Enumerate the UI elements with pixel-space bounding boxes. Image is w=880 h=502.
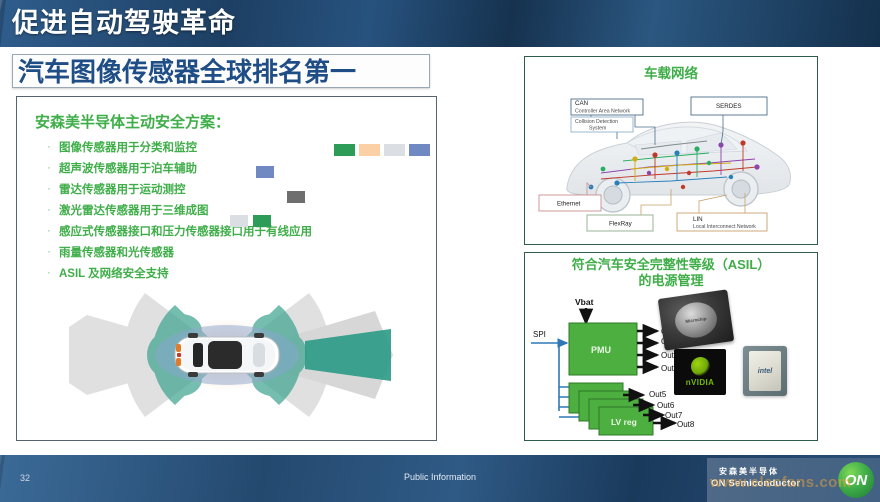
active-safety-panel: 安森美半导体主动安全方案： · 图像传感器用于分类和监控 · 超声波传感器用于泊… [16,96,437,441]
list-item-label: 图像传感器用于分类和监控 [59,142,197,154]
sensor-swatch-lidar-gray [230,215,248,227]
callout-can-line2: Controller Area Network [575,109,630,115]
list-item: · 雨量传感器和光传感器 [45,244,437,265]
callout-collision-line2: System [589,126,606,132]
spi-label: SPI [533,330,546,339]
asil-power-title-line2: 的电源管理 [525,273,817,289]
site-watermark: www.elecfans.com [710,474,880,491]
bullet-marker-icon: · [47,223,51,237]
bullet-marker-icon: · [47,181,51,195]
callout-can-line1: CAN [575,100,588,107]
sensor-swatch-lidar-green [253,215,271,227]
list-item-label: 超声波传感器用于泊车辅助 [59,163,197,175]
legend-swatch-green [334,144,355,156]
list-item-label: 雷达传感器用于运动测控 [59,184,186,196]
bullet-marker-icon: · [47,202,51,216]
in-vehicle-network-panel: 车载网络 [524,56,818,245]
pmu-outputs [637,331,657,367]
callout-flexray-label: FlexRay [609,221,633,228]
legend-swatch-orange [359,144,380,156]
list-item-label: 激光雷达传感器用于三维成图 [59,205,209,217]
asil-power-title: 符合汽车安全完整性等级（ASIL） 的电源管理 [525,257,817,289]
bullet-marker-icon: · [47,265,51,279]
slide: 促进自动驾驶革命 汽车图像传感器全球排名第一 安森美半导体主动安全方案： · 图… [0,0,880,502]
car-top-view [175,333,279,377]
in-vehicle-network-diagram: CAN Controller Area Network Collision De… [531,83,811,241]
out8-label: Out8 [677,420,695,429]
out5-label: Out5 [649,390,667,399]
top-banner: 促进自动驾驶革命 [0,0,880,47]
list-item: · 雷达传感器用于运动测控 [45,181,437,202]
intel-wordmark: intel [758,368,772,375]
vbat-label: Vbat [575,297,594,307]
page-title: 促进自动驾驶革命 [12,6,236,40]
bga-chip-text: Microchip [685,316,707,324]
lv-reg-stack: LV reg [569,383,653,435]
list-item-label: 雨量传感器和光传感器 [59,247,174,259]
callout-lin-line1: LIN [693,216,703,223]
sensor-swatch-radar [287,191,305,203]
asil-power-title-line1: 符合汽车安全完整性等级（ASIL） [525,257,817,273]
nvidia-wordmark: nVIDIA [686,378,715,387]
bga-processor-image: Microchip [658,289,735,350]
callout-lin-line2: Local Interconnect Network [693,224,756,230]
bullet-marker-icon: · [47,160,51,174]
legend-swatch-gray [384,144,405,156]
lv-reg-label: LV reg [611,417,637,427]
list-item-label: 感应式传感器接口和压力传感器接口用于有线应用 [59,226,312,238]
sensor-coverage-diagram [57,275,397,435]
nvidia-eye-icon [691,357,710,376]
bullet-marker-icon: · [47,244,51,258]
bullet-marker-icon: · [47,139,51,153]
pmu-label: PMU [591,345,611,355]
callout-collision: Collision Detection System [571,117,633,132]
callout-ethernet-label: Ethernet [557,201,581,208]
sensor-swatch-ultrasonic [256,166,274,178]
callout-collision-line1: Collision Detection [575,119,618,125]
nvidia-logo-image: nVIDIA [674,349,726,395]
active-safety-heading: 安森美半导体主动安全方案： [35,111,230,132]
subtitle-text: 汽车图像传感器全球排名第一 [18,56,356,88]
intel-cpu-image: intel [743,346,787,396]
active-safety-bullet-list: · 图像传感器用于分类和监控 · 超声波传感器用于泊车辅助 · 雷达传感器用于运… [45,139,437,286]
in-vehicle-network-title: 车载网络 [525,62,817,82]
callout-serdes-label: SERDES [716,103,741,110]
asil-power-panel: 符合汽车安全完整性等级（ASIL） 的电源管理 Vbat SPI [524,252,818,441]
out7-label: Out7 [665,411,683,420]
out6-label: Out6 [657,401,675,410]
subtitle-box: 汽车图像传感器全球排名第一 [12,54,430,88]
legend-swatch-blue [409,144,430,156]
list-item: · 超声波传感器用于泊车辅助 [45,160,437,181]
